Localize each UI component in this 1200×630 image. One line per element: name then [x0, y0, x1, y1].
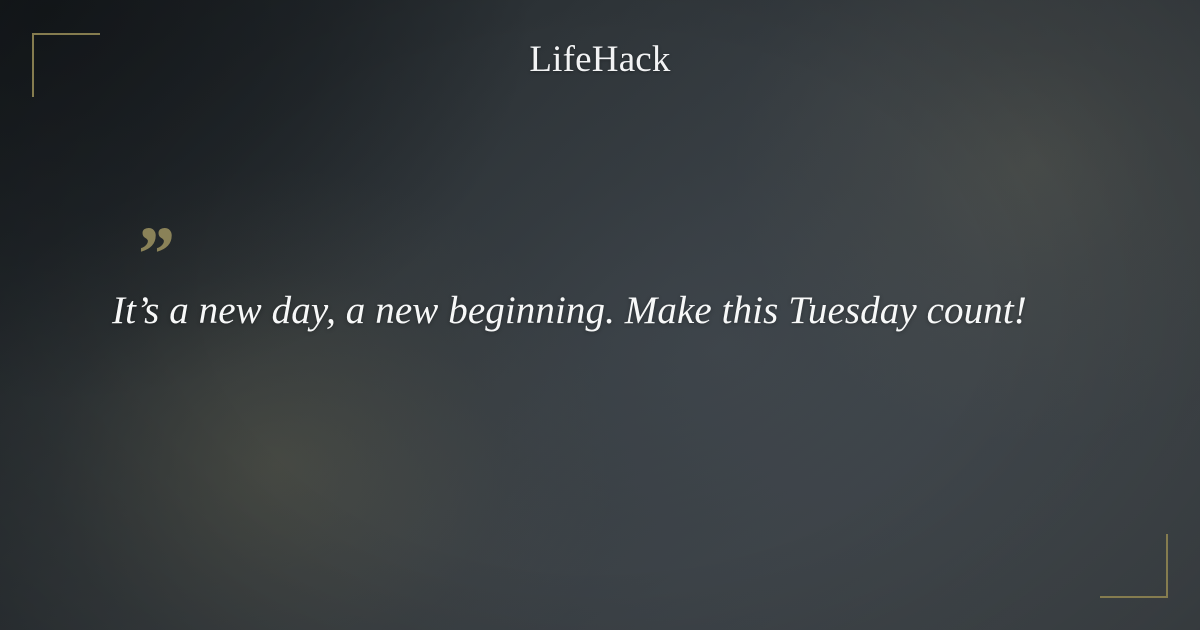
- corner-bracket-bottom-right-icon: [1100, 534, 1168, 598]
- quote-text: It’s a new day, a new beginning. Make th…: [112, 287, 1112, 335]
- quote-card: LifeHack ” It’s a new day, a new beginni…: [0, 0, 1200, 630]
- quote-mark-icon: ”: [134, 215, 1112, 269]
- quote-block: ” It’s a new day, a new beginning. Make …: [112, 215, 1112, 335]
- brand-logo: LifeHack: [0, 41, 1200, 78]
